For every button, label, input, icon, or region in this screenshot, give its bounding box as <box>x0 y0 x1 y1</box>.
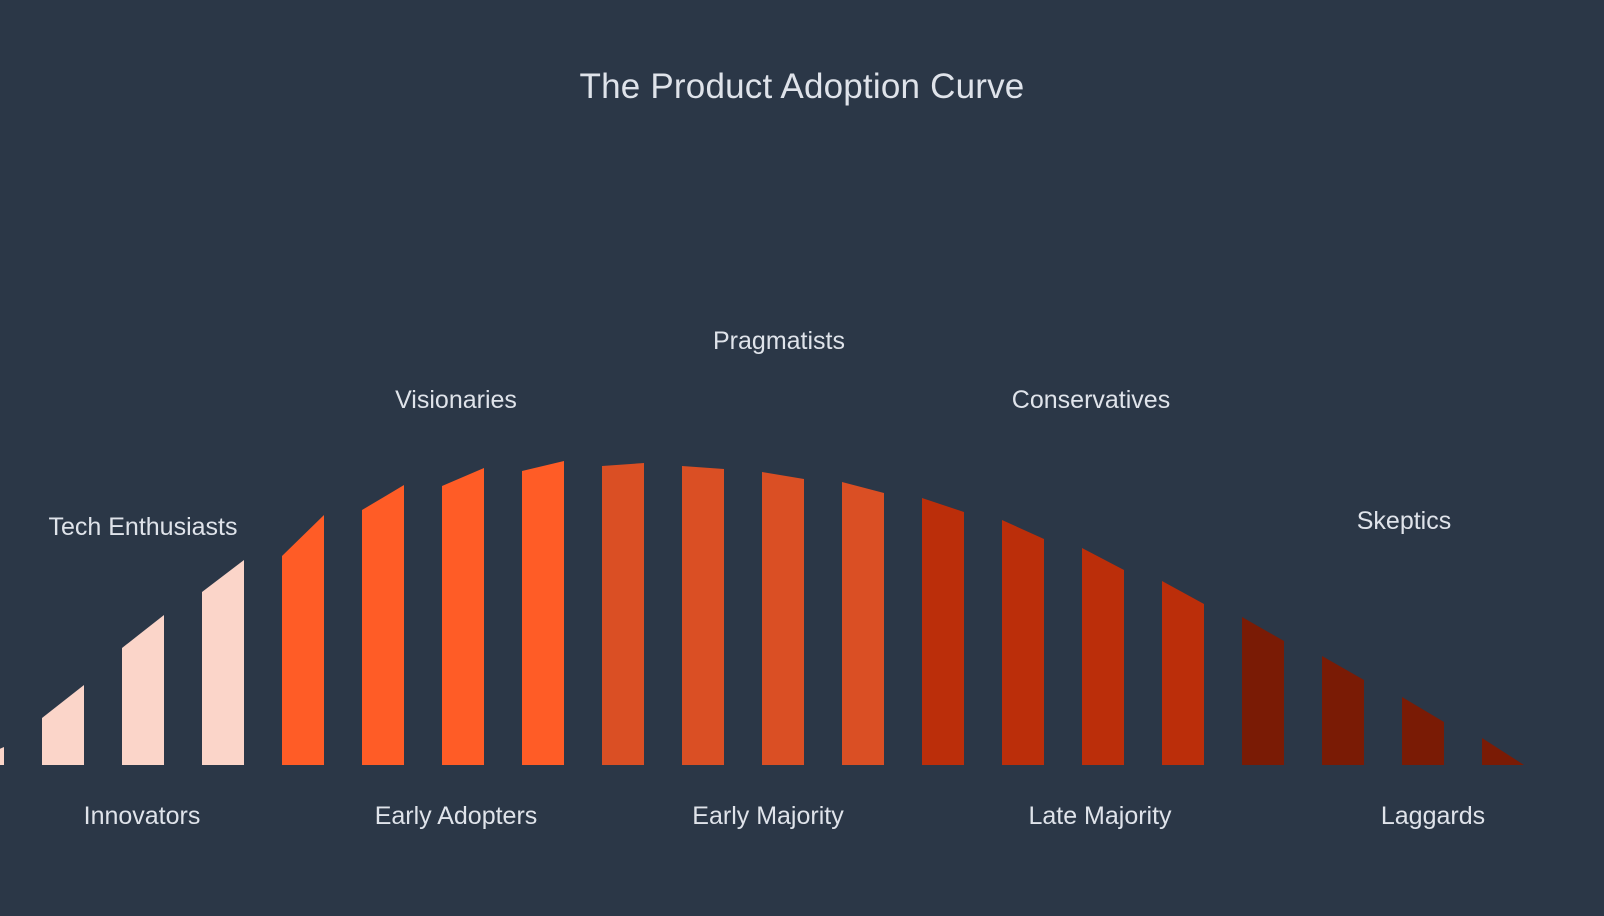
bar <box>602 463 644 765</box>
bar <box>682 466 724 765</box>
category-label-early-majority: Early Majority <box>692 802 843 831</box>
bar <box>842 482 884 765</box>
bar <box>362 485 404 765</box>
bar <box>1002 520 1044 765</box>
bar <box>122 615 164 765</box>
bar <box>0 747 4 765</box>
bar <box>1162 581 1204 765</box>
bar <box>202 560 244 765</box>
bar-series <box>0 461 1524 765</box>
chart-canvas: The Product Adoption Curve Tech Enthusia… <box>0 0 1604 916</box>
bar <box>42 685 84 765</box>
segment-label-tech-enthusiasts: Tech Enthusiasts <box>49 513 238 542</box>
bar <box>1242 617 1284 765</box>
category-label-laggards: Laggards <box>1381 802 1485 831</box>
plot-area: Tech EnthusiastsVisionariesPragmatistsCo… <box>0 0 1604 916</box>
segment-label-visionaries: Visionaries <box>395 386 517 415</box>
bar <box>1402 697 1444 765</box>
segment-label-skeptics: Skeptics <box>1357 507 1451 536</box>
bar <box>442 468 484 765</box>
bar <box>522 461 564 765</box>
segment-label-pragmatists: Pragmatists <box>713 327 845 356</box>
bar <box>922 498 964 765</box>
bar <box>1482 738 1524 765</box>
bar <box>1322 656 1364 765</box>
category-label-innovators: Innovators <box>84 802 201 831</box>
adoption-curve-bars <box>0 0 1604 916</box>
bar <box>762 472 804 765</box>
category-label-late-majority: Late Majority <box>1028 802 1171 831</box>
bar <box>282 515 324 765</box>
segment-label-conservatives: Conservatives <box>1012 386 1170 415</box>
bar <box>1082 548 1124 765</box>
category-label-early-adopters: Early Adopters <box>375 802 538 831</box>
